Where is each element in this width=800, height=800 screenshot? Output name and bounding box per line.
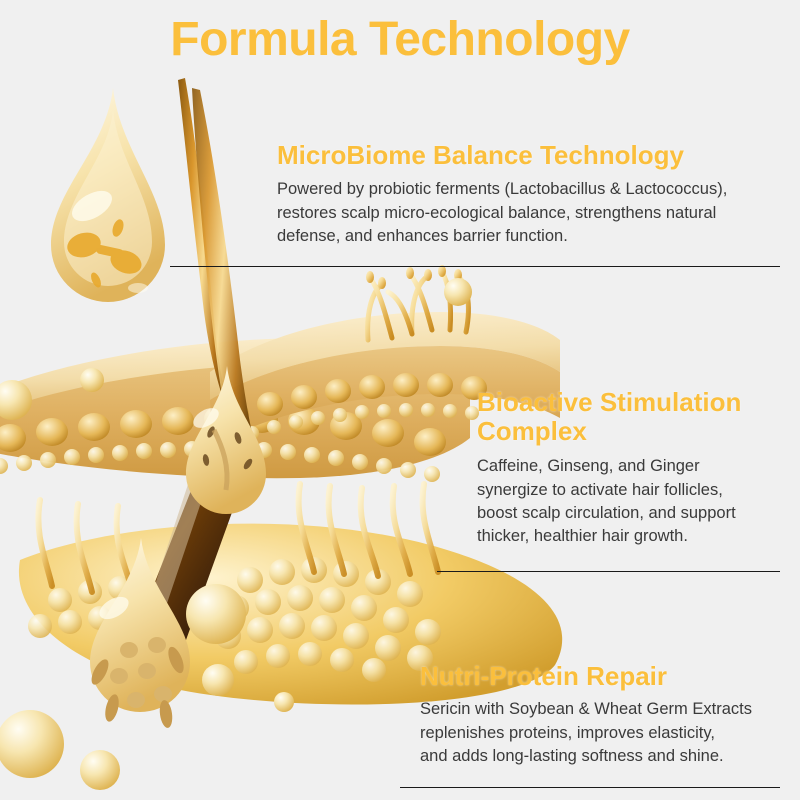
section-microbiome-body: Powered by probiotic ferments (Lactobaci…	[277, 178, 782, 248]
section-bioactive-heading: Bioactive Stimulation Complex	[477, 388, 782, 446]
section-bioactive-body: Caffeine, Ginseng, and Ginger synergize …	[477, 455, 782, 549]
section-microbiome-heading: MicroBiome Balance Technology	[277, 141, 782, 170]
section-nutri-protein-heading: Nutri-Protein Repair	[420, 662, 782, 691]
body-line: synergize to activate hair follicles,	[477, 479, 782, 502]
section-nutri-protein: Nutri-Protein Repair Sericin with Soybea…	[420, 662, 782, 768]
body-line: replenishes proteins, improves elasticit…	[420, 722, 782, 745]
oil-bubble-small	[444, 278, 472, 306]
body-line: Caffeine, Ginseng, and Ginger	[477, 455, 782, 478]
oil-bubble-small	[80, 368, 104, 392]
oil-bubble-small	[80, 750, 120, 790]
oil-bubble-small	[202, 664, 234, 696]
body-line: thicker, healthier hair growth.	[477, 525, 782, 548]
section-bioactive: Bioactive Stimulation Complex Caffeine, …	[477, 388, 782, 549]
body-line: Sericin with Soybean & Wheat Germ Extrac…	[420, 698, 782, 721]
heading-line: Bioactive Stimulation	[477, 388, 782, 417]
infographic-page: Formula Technology MicroBiome Balance Te…	[0, 0, 800, 800]
section-nutri-protein-body: Sericin with Soybean & Wheat Germ Extrac…	[420, 698, 782, 768]
divider-rule-2	[437, 571, 780, 572]
body-line: defense, and enhances barrier function.	[277, 225, 782, 248]
section-microbiome: MicroBiome Balance Technology Powered by…	[277, 141, 782, 248]
oil-bubble-small	[186, 584, 246, 644]
oil-bubble-small	[274, 692, 294, 712]
body-line: boost scalp circulation, and support	[477, 502, 782, 525]
heading-line: Complex	[477, 417, 782, 446]
oil-droplet-probiotic	[51, 88, 165, 302]
body-line: restores scalp micro-ecological balance,…	[277, 202, 782, 225]
page-title: Formula Technology	[0, 14, 800, 67]
divider-rule-1	[170, 266, 780, 267]
body-line: and adds long-lasting softness and shine…	[420, 745, 782, 768]
oil-bubble-small	[0, 710, 64, 778]
divider-rule-3	[400, 787, 780, 788]
body-line: Powered by probiotic ferments (Lactobaci…	[277, 178, 782, 201]
